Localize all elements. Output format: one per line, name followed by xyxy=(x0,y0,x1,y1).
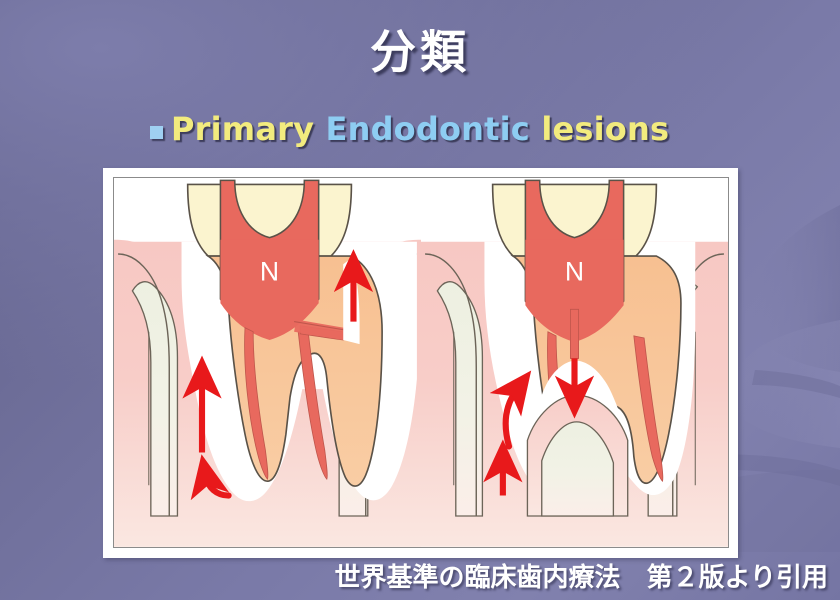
bullet-heading: Primary Endodontic lesions xyxy=(150,110,669,148)
furcation-accessory-canal xyxy=(570,309,578,358)
square-bullet-icon xyxy=(150,126,163,139)
figure-inner-border: N xyxy=(113,177,729,548)
citation-text: 世界基準の臨床歯内療法 第２版より引用 xyxy=(335,557,828,594)
pulp-label-n: N xyxy=(260,257,279,287)
bullet-word-lesions: lesions xyxy=(541,110,669,148)
tooth-diagram-right: N xyxy=(421,178,728,547)
bullet-space-1 xyxy=(314,110,325,148)
bullet-word-primary: Primary xyxy=(171,110,314,148)
slide-canvas: 分類 Primary Endodontic lesions xyxy=(0,0,840,600)
bullet-space-2 xyxy=(530,110,541,148)
tooth-diagram-left: N xyxy=(114,178,421,547)
bullet-word-endodontic: Endodontic xyxy=(326,110,530,148)
page-title: 分類 xyxy=(0,16,840,82)
pulp-label-n: N xyxy=(565,257,584,287)
bullet-heading-text: Primary Endodontic lesions xyxy=(171,110,669,148)
figure-frame: N xyxy=(103,168,738,558)
